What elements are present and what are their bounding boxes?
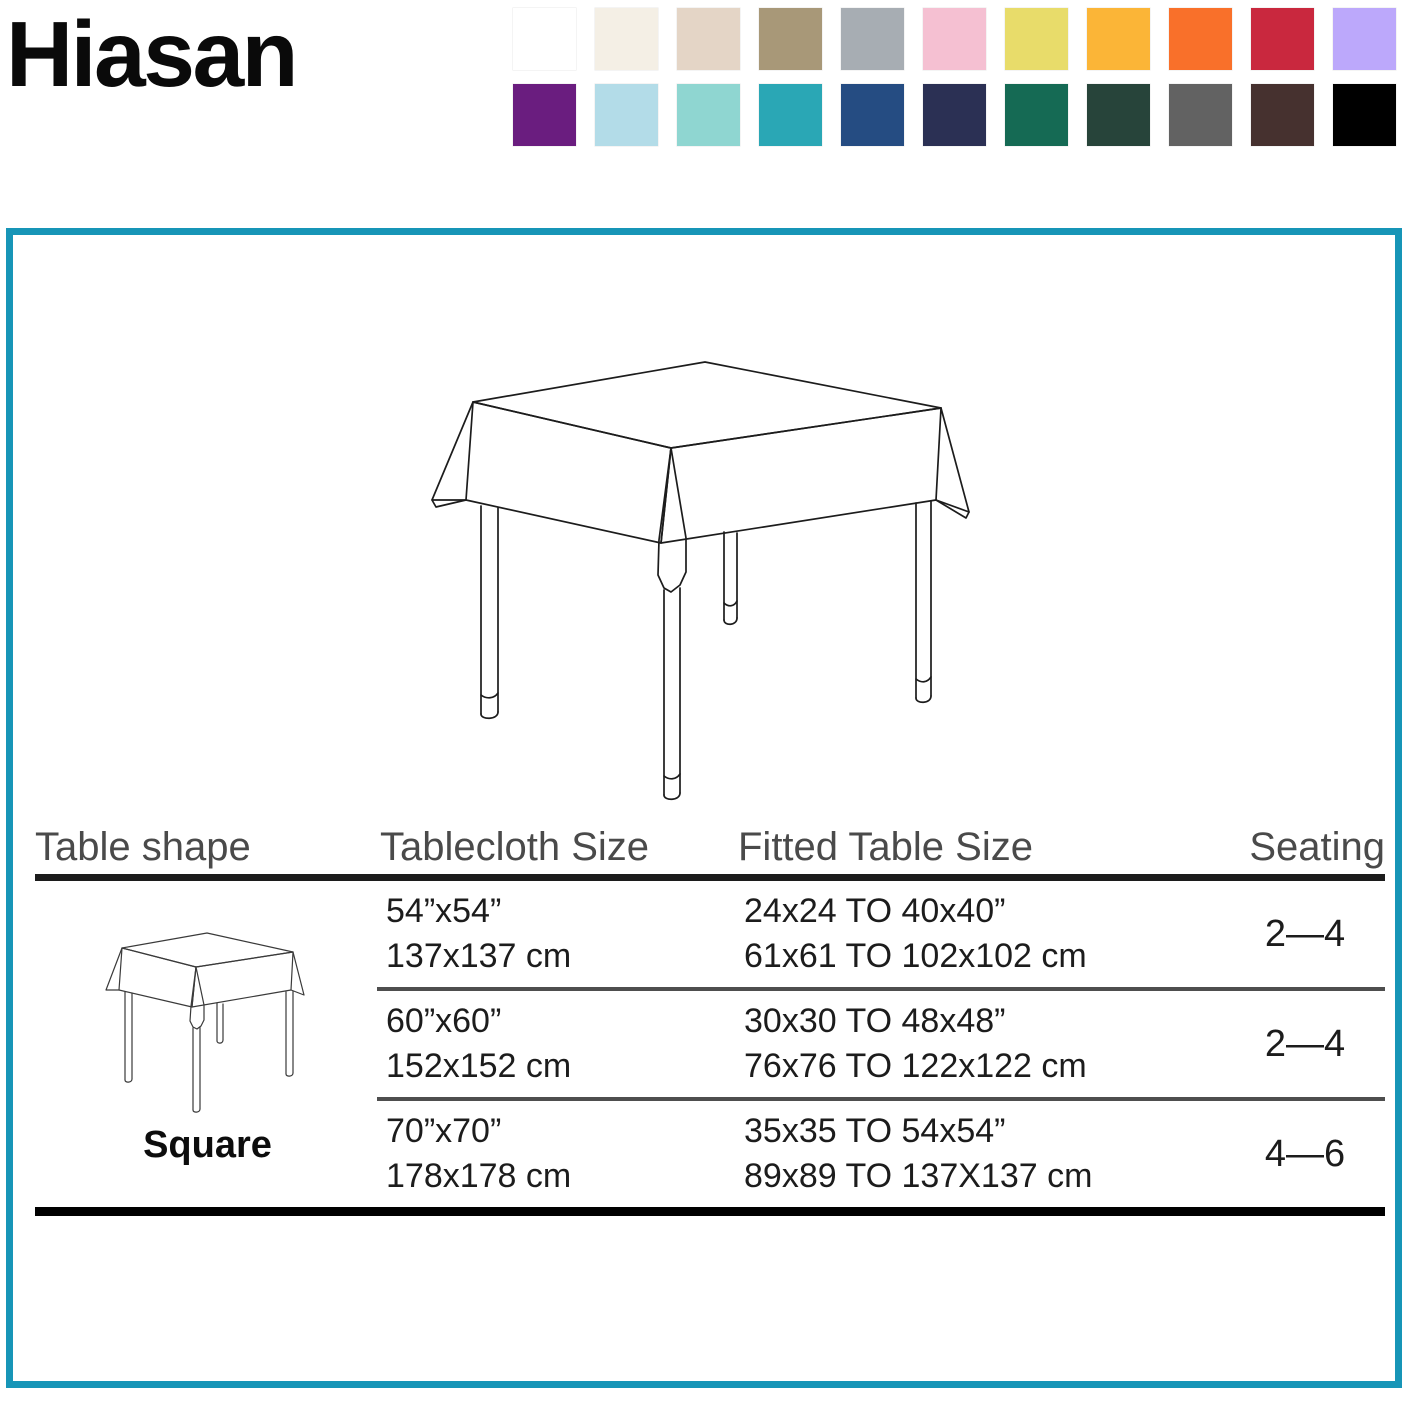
tablecloth-size-inches: 70”x70” bbox=[386, 1113, 738, 1150]
tablecloth-size-inches: 60”x60” bbox=[386, 1003, 738, 1040]
shape-column-spacer bbox=[35, 881, 380, 987]
color-swatch-navy-blue[interactable] bbox=[841, 84, 904, 146]
color-swatch-dark-navy[interactable] bbox=[923, 84, 986, 146]
color-swatch-emerald-green[interactable] bbox=[1005, 84, 1068, 146]
table-body: Square 54”x54” 137x137 cm 24x24 TO 40x40… bbox=[35, 881, 1385, 1207]
color-swatch-hunter-green[interactable] bbox=[1087, 84, 1150, 146]
tablecloth-size-cm: 152x152 cm bbox=[386, 1048, 738, 1085]
tablecloth-size-cell: 60”x60” 152x152 cm bbox=[380, 991, 738, 1097]
fitted-size-inches: 35x35 TO 54x54” bbox=[744, 1113, 1225, 1150]
color-swatch-yellow[interactable] bbox=[1005, 8, 1068, 70]
color-swatch-charcoal-grey[interactable] bbox=[1169, 84, 1232, 146]
square-table-tablecloth-illustration-icon bbox=[418, 340, 988, 805]
fitted-size-inches: 30x30 TO 48x48” bbox=[744, 1003, 1225, 1040]
column-header-tablecloth-size: Tablecloth Size bbox=[380, 827, 738, 867]
shape-column-spacer bbox=[35, 1101, 380, 1207]
swatch-row-1 bbox=[513, 8, 1413, 70]
brand-header: Hiasan bbox=[0, 0, 1416, 200]
color-swatch-gold[interactable] bbox=[1087, 8, 1150, 70]
color-swatch-black[interactable] bbox=[1333, 84, 1396, 146]
table-row: 60”x60” 152x152 cm 30x30 TO 48x48” 76x76… bbox=[35, 991, 1385, 1097]
color-swatch-blush-pink[interactable] bbox=[923, 8, 986, 70]
color-swatch-orange[interactable] bbox=[1169, 8, 1232, 70]
color-swatch-silver-grey[interactable] bbox=[841, 8, 904, 70]
seating-value: 2—4 bbox=[1265, 1023, 1345, 1066]
color-swatch-ivory[interactable] bbox=[595, 8, 658, 70]
size-table: Table shape Tablecloth Size Fitted Table… bbox=[35, 805, 1385, 1216]
size-chart-panel: Table shape Tablecloth Size Fitted Table… bbox=[6, 228, 1402, 1388]
table-row: 70”x70” 178x178 cm 35x35 TO 54x54” 89x89… bbox=[35, 1101, 1385, 1207]
fitted-table-size-cell: 35x35 TO 54x54” 89x89 TO 137X137 cm bbox=[738, 1101, 1225, 1207]
color-swatch-dark-brown[interactable] bbox=[1251, 84, 1314, 146]
tablecloth-size-inches: 54”x54” bbox=[386, 893, 738, 930]
color-swatch-palette bbox=[513, 8, 1413, 146]
fitted-size-cm: 76x76 TO 122x122 cm bbox=[744, 1048, 1225, 1085]
color-swatch-light-blue[interactable] bbox=[595, 84, 658, 146]
color-swatch-red[interactable] bbox=[1251, 8, 1314, 70]
color-swatch-beige[interactable] bbox=[677, 8, 740, 70]
color-swatch-teal[interactable] bbox=[759, 84, 822, 146]
tablecloth-size-cm: 178x178 cm bbox=[386, 1158, 738, 1195]
table-header-row: Table shape Tablecloth Size Fitted Table… bbox=[35, 805, 1385, 867]
fitted-size-cm: 61x61 TO 102x102 cm bbox=[744, 938, 1225, 975]
tablecloth-size-cell: 54”x54” 137x137 cm bbox=[380, 881, 738, 987]
column-header-table-shape: Table shape bbox=[35, 827, 380, 867]
tablecloth-size-cell: 70”x70” 178x178 cm bbox=[380, 1101, 738, 1207]
table-bottom-rule bbox=[35, 1207, 1385, 1216]
tablecloth-size-cm: 137x137 cm bbox=[386, 938, 738, 975]
shape-column-spacer bbox=[35, 991, 380, 1097]
seating-cell: 2—4 bbox=[1225, 991, 1385, 1097]
table-header-rule bbox=[35, 874, 1385, 881]
seating-value: 4—6 bbox=[1265, 1133, 1345, 1176]
seating-value: 2—4 bbox=[1265, 913, 1345, 956]
fitted-size-cm: 89x89 TO 137X137 cm bbox=[744, 1158, 1225, 1195]
color-swatch-lavender[interactable] bbox=[1333, 8, 1396, 70]
color-swatch-purple[interactable] bbox=[513, 84, 576, 146]
color-swatch-taupe[interactable] bbox=[759, 8, 822, 70]
fitted-table-size-cell: 24x24 TO 40x40” 61x61 TO 102x102 cm bbox=[738, 881, 1225, 987]
fitted-table-size-cell: 30x30 TO 48x48” 76x76 TO 122x122 cm bbox=[738, 991, 1225, 1097]
table-row: 54”x54” 137x137 cm 24x24 TO 40x40” 61x61… bbox=[35, 881, 1385, 987]
fitted-size-inches: 24x24 TO 40x40” bbox=[744, 893, 1225, 930]
seating-cell: 2—4 bbox=[1225, 881, 1385, 987]
brand-logo: Hiasan bbox=[6, 8, 296, 101]
color-swatch-white[interactable] bbox=[513, 8, 576, 70]
swatch-row-2 bbox=[513, 84, 1413, 146]
seating-cell: 4—6 bbox=[1225, 1101, 1385, 1207]
column-header-seating: Seating bbox=[1225, 827, 1385, 867]
color-swatch-aqua[interactable] bbox=[677, 84, 740, 146]
column-header-fitted-table-size: Fitted Table Size bbox=[738, 827, 1225, 867]
